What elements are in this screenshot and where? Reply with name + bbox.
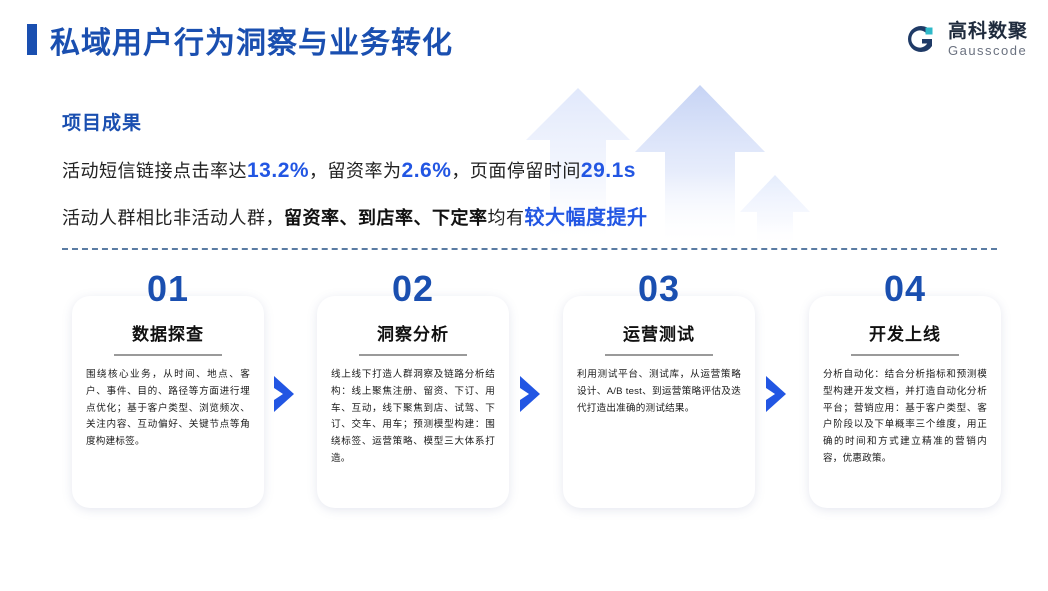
step-title: 运营测试 xyxy=(577,320,741,345)
step-description: 线上线下打造人群洞察及链路分析结构：线上聚焦注册、留资、下订、用车、互动，线下聚… xyxy=(331,367,495,468)
step-chevron-icon-2 xyxy=(518,374,544,414)
step-card-body[interactable]: 开发上线 分析自动化：结合分析指标和预测模型构建开发文档，并打造自动化分析平台；… xyxy=(809,296,1001,508)
decor-arrow-right xyxy=(740,175,810,246)
results-l1-seg1: 活动短信链接点击率达 xyxy=(62,161,247,181)
process-steps: 01 数据探查 围绕核心业务，从时间、地点、客户、事件、目的、路径等方面进行埋点… xyxy=(0,268,1048,518)
step-title: 数据探查 xyxy=(86,320,250,345)
step-description: 利用测试平台、测试库，从运营策略设计、A/B test、到运营策略评估及迭代打造… xyxy=(577,367,741,417)
results-l1-seg2: ，留资率为 xyxy=(309,161,402,181)
step-description: 围绕核心业务，从时间、地点、客户、事件、目的、路径等方面进行埋点优化；基于客户类… xyxy=(86,367,250,451)
step-card-body[interactable]: 数据探查 围绕核心业务，从时间、地点、客户、事件、目的、路径等方面进行埋点优化；… xyxy=(72,296,264,508)
title-accent-bar xyxy=(27,24,37,55)
results-heading: 项目成果 xyxy=(62,108,712,135)
results-line-1: 活动短信链接点击率达13.2%，留资率为2.6%，页面停留时间29.1s xyxy=(62,157,712,183)
results-line-2: 活动人群相比非活动人群，留资率、到店率、下定率均有较大幅度提升 xyxy=(62,201,712,230)
step-chevron-icon-1 xyxy=(272,374,298,414)
step-title-rule xyxy=(851,354,959,356)
step-title: 洞察分析 xyxy=(331,320,495,345)
metric-click-rate: 13.2% xyxy=(247,159,309,182)
slide-header: 私域用户行为洞察与业务转化 高科数聚 Gausscode xyxy=(0,0,1048,80)
results-l2-highlight: 较大幅度提升 xyxy=(525,207,648,229)
results-l1-seg3: ，页面停留时间 xyxy=(451,161,581,181)
slide-canvas: 私域用户行为洞察与业务转化 高科数聚 Gausscode 项目成果 活动短信链接… xyxy=(0,0,1048,591)
step-number: 02 xyxy=(317,268,509,310)
step-title-rule xyxy=(114,354,222,356)
metric-dwell-time: 29.1s xyxy=(581,159,636,182)
results-l2-bold: 留资率、到店率、下定率 xyxy=(284,208,488,228)
step-number: 03 xyxy=(563,268,755,310)
logo-text-en: Gausscode xyxy=(948,44,1028,57)
metric-lead-rate: 2.6% xyxy=(402,159,452,182)
step-number: 01 xyxy=(72,268,264,310)
results-l2-seg1: 活动人群相比非活动人群， xyxy=(62,208,284,228)
brand-logo: 高科数聚 Gausscode xyxy=(905,22,1028,57)
step-title-rule xyxy=(359,354,467,356)
section-divider xyxy=(62,248,997,250)
gausscode-g-mark-icon xyxy=(905,23,939,57)
step-chevron-icon-3 xyxy=(764,374,790,414)
step-title: 开发上线 xyxy=(823,320,987,345)
results-l2-seg2: 均有 xyxy=(488,208,525,228)
step-title-rule xyxy=(605,354,713,356)
step-description: 分析自动化：结合分析指标和预测模型构建开发文档，并打造自动化分析平台；营销应用：… xyxy=(823,367,987,468)
page-title: 私域用户行为洞察与业务转化 xyxy=(50,18,453,62)
project-results-block: 项目成果 活动短信链接点击率达13.2%，留资率为2.6%，页面停留时间29.1… xyxy=(62,108,712,248)
step-number: 04 xyxy=(809,268,1001,310)
logo-text-cn: 高科数聚 xyxy=(948,22,1028,41)
step-card-body[interactable]: 洞察分析 线上线下打造人群洞察及链路分析结构：线上聚焦注册、留资、下订、用车、互… xyxy=(317,296,509,508)
step-card-body[interactable]: 运营测试 利用测试平台、测试库，从运营策略设计、A/B test、到运营策略评估… xyxy=(563,296,755,508)
